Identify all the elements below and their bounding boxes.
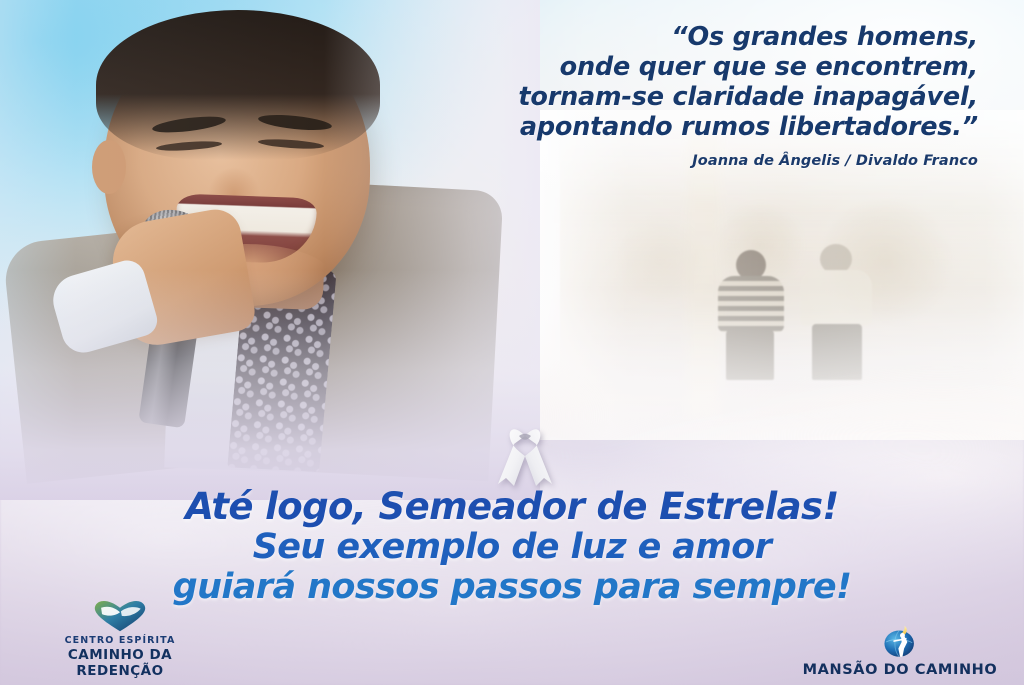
- logo-mansao-do-caminho: MANSÃO DO CAMINHO: [792, 624, 1008, 679]
- quote-attribution: Joanna de Ângelis / Divaldo Franco: [418, 153, 978, 169]
- headline-line-2: Seu exemplo de luz e amor: [0, 527, 1024, 567]
- quote-line-1: “Os grandes homens,: [418, 22, 978, 52]
- quote-block: “Os grandes homens, onde quer que se enc…: [418, 22, 978, 169]
- headline-block: Até logo, Semeador de Estrelas! Seu exem…: [0, 486, 1024, 607]
- quote-line-4: apontando rumos libertadores.”: [418, 112, 978, 142]
- memorial-poster: “Os grandes homens, onde quer que se enc…: [0, 0, 1024, 685]
- quote-line-2: onde quer que se encontrem,: [418, 52, 978, 82]
- quote-line-3: tornam-se claridade inapagável,: [418, 82, 978, 112]
- logo-centro-espirita-line1: CENTRO ESPÍRITA: [22, 635, 218, 647]
- hands-heart-icon: [22, 597, 218, 633]
- logo-centro-espirita-line2: CAMINHO DA REDENÇÃO: [22, 647, 218, 679]
- white-mourning-ribbon-icon: [494, 414, 556, 488]
- headline-line-1: Até logo, Semeador de Estrelas!: [0, 486, 1024, 527]
- logo-mansao-do-caminho-label: MANSÃO DO CAMINHO: [792, 662, 1008, 679]
- logo-centro-espirita: CENTRO ESPÍRITA CAMINHO DA REDENÇÃO: [22, 597, 218, 679]
- globe-figure-flame-icon: [792, 624, 1008, 660]
- hair-icon: [96, 10, 380, 160]
- ear-icon: [92, 140, 126, 194]
- portrait-divaldo-franco: [0, 0, 470, 470]
